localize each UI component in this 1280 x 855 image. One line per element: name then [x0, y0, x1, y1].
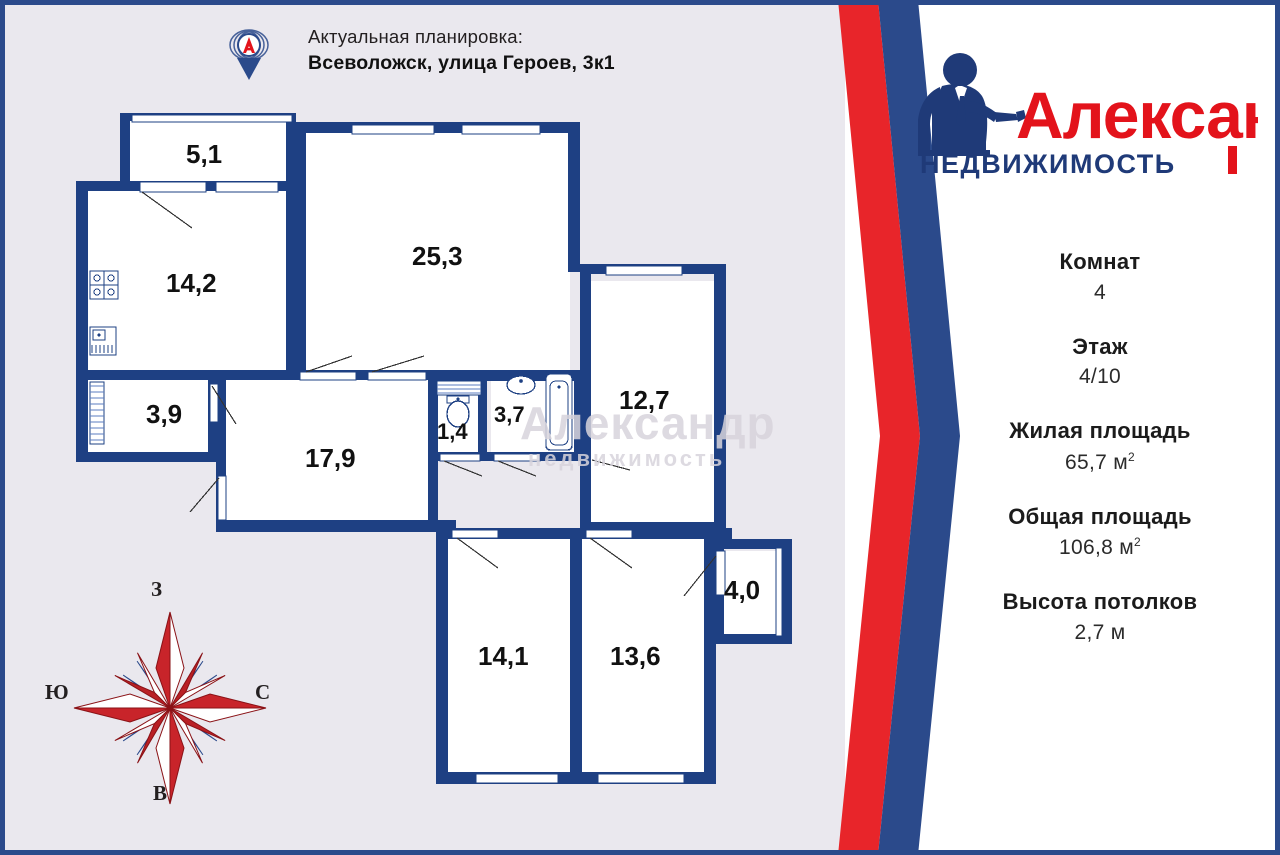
area-label-bathroom: 3,7 — [494, 402, 525, 428]
logo-brand-text: Александр — [1016, 78, 1258, 152]
area-label-hall: 17,9 — [305, 443, 356, 474]
info-rooms: Комнат 4 — [930, 248, 1270, 305]
compass-label-north: З — [151, 577, 162, 602]
info-rooms-value: 4 — [930, 281, 1270, 305]
man-with-key-icon — [918, 53, 1026, 156]
area-label-balcony-top: 5,1 — [186, 139, 222, 170]
area-label-living-room: 25,3 — [412, 241, 463, 272]
info-living-area-label: Жилая площадь — [930, 417, 1270, 445]
map-pin-icon — [228, 28, 270, 84]
info-total-area-value: 106,8 м2 — [930, 535, 1270, 560]
area-label-kitchen: 14,2 — [166, 268, 217, 299]
compass-rose: З С В Ю — [55, 585, 285, 830]
stove-icon — [90, 271, 118, 299]
info-floor-label: Этаж — [930, 333, 1270, 361]
company-logo: Александр НЕДВИЖИМОСТЬ — [898, 46, 1258, 196]
info-total-area-label: Общая площадь — [930, 503, 1270, 531]
area-label-toilet: 1,4 — [437, 419, 468, 445]
area-label-balcony-right: 4,0 — [724, 575, 760, 606]
compass-label-east: С — [255, 680, 270, 705]
header-line-1: Актуальная планировка: — [308, 26, 523, 48]
area-label-bedroom-right-top: 12,7 — [619, 385, 670, 416]
header: Актуальная планировка: Всеволожск, улица… — [228, 26, 648, 88]
info-living-area: Жилая площадь 65,7 м2 — [930, 417, 1270, 475]
info-ceiling-height: Высота потолков 2,7 м — [930, 588, 1270, 645]
floor-plan-page: Александр недвижимость 5,1 14,2 25,3 3,9… — [0, 0, 1280, 855]
compass-star-icon — [55, 585, 285, 830]
info-rooms-label: Комнат — [930, 248, 1270, 276]
info-ceiling-height-value: 2,7 м — [930, 621, 1270, 645]
info-floor-value: 4/10 — [930, 365, 1270, 389]
washbasin-icon — [507, 376, 535, 394]
area-label-storage: 3,9 — [146, 399, 182, 430]
kitchen-sink-icon — [90, 327, 116, 355]
info-ceiling-height-label: Высота потолков — [930, 588, 1270, 616]
area-label-bedroom-left: 14,1 — [478, 641, 529, 672]
area-label-bedroom-middle: 13,6 — [610, 641, 661, 672]
bathtub-icon — [546, 374, 572, 450]
logo-subtitle-text: НЕДВИЖИМОСТЬ — [920, 149, 1176, 179]
vent-icon — [437, 381, 481, 395]
compass-label-south: В — [153, 781, 167, 806]
radiator-icon — [90, 382, 104, 444]
info-total-area: Общая площадь 106,8 м2 — [930, 503, 1270, 561]
info-living-area-value: 65,7 м2 — [930, 450, 1270, 475]
info-floor: Этаж 4/10 — [930, 333, 1270, 390]
header-line-2: Всеволожск, улица Героев, 3к1 — [308, 52, 615, 75]
property-info: Комнат 4 Этаж 4/10 Жилая площадь 65,7 м2… — [930, 248, 1270, 673]
compass-label-west: Ю — [45, 680, 69, 705]
